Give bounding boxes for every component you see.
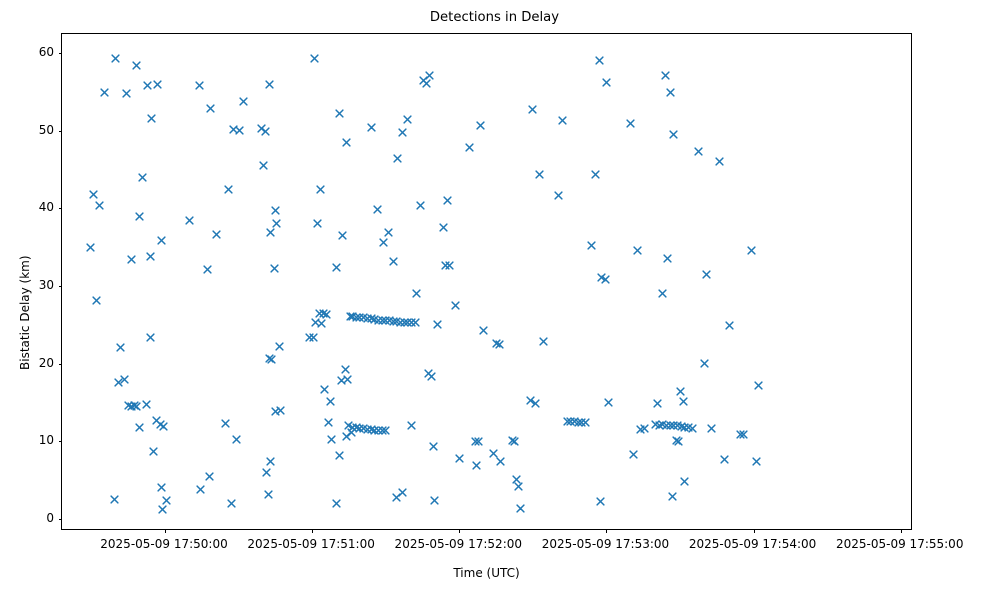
scatter-point <box>666 88 675 97</box>
scatter-point <box>352 423 361 432</box>
scatter-point <box>265 354 274 363</box>
scatter-point <box>327 435 336 444</box>
scatter-point <box>100 88 109 97</box>
scatter-point <box>86 243 95 252</box>
scatter-point <box>203 265 212 274</box>
scatter-point <box>185 216 194 225</box>
y-tick-label: 50 <box>39 123 54 137</box>
scatter-point <box>135 423 144 432</box>
scatter-point <box>445 261 454 270</box>
scatter-point <box>127 255 136 264</box>
x-tick-mark <box>754 529 755 533</box>
scatter-point <box>347 428 356 437</box>
scatter-point <box>162 496 171 505</box>
scatter-point <box>574 418 583 427</box>
scatter-point <box>227 499 236 508</box>
scatter-point <box>655 421 664 430</box>
scatter-point <box>317 319 326 328</box>
scatter-point <box>680 477 689 486</box>
scatter-point <box>636 425 645 434</box>
scatter-point <box>311 318 320 327</box>
y-tick-label: 10 <box>39 433 54 447</box>
scatter-point <box>316 185 325 194</box>
scatter-point <box>309 333 318 342</box>
scatter-point <box>492 339 501 348</box>
scatter-point <box>235 126 244 135</box>
scatter-point <box>379 238 388 247</box>
scatter-point <box>265 80 274 89</box>
x-tick-mark <box>606 529 607 533</box>
scatter-point <box>367 314 376 323</box>
scatter-point <box>754 381 763 390</box>
scatter-point <box>264 490 273 499</box>
scatter-point <box>666 421 675 430</box>
scatter-point <box>715 157 724 166</box>
scatter-point <box>403 115 412 124</box>
scatter-point <box>495 340 504 349</box>
scatter-point <box>132 402 141 411</box>
scatter-point <box>398 488 407 497</box>
y-tick-mark <box>59 519 63 520</box>
scatter-point <box>355 313 364 322</box>
x-tick-label: 2025-05-09 17:53:00 <box>542 537 669 551</box>
scatter-point <box>374 316 383 325</box>
scatter-point <box>403 318 412 327</box>
scatter-point <box>367 123 376 132</box>
scatter-point <box>271 206 280 215</box>
scatter-point <box>596 497 605 506</box>
scatter-point <box>127 402 136 411</box>
scatter-point <box>116 343 125 352</box>
scatter-point <box>335 451 344 460</box>
scatter-point <box>332 263 341 272</box>
scatter-point <box>229 125 238 134</box>
scatter-point <box>633 246 642 255</box>
scatter-point <box>384 228 393 237</box>
scatter-point <box>419 76 428 85</box>
scatter-point <box>374 426 383 435</box>
scatter-point <box>110 495 119 504</box>
scatter-point <box>212 230 221 239</box>
scatter-point <box>239 97 248 106</box>
scatter-point <box>427 372 436 381</box>
scatter-point <box>601 275 610 284</box>
scatter-point <box>310 54 319 63</box>
scatter-point <box>702 270 711 279</box>
scatter-point <box>342 138 351 147</box>
scatter-point <box>221 419 230 428</box>
scatter-point <box>412 289 421 298</box>
scatter-point <box>531 399 540 408</box>
scatter-point <box>343 375 352 384</box>
scatter-point <box>370 426 379 435</box>
scatter-point <box>275 342 284 351</box>
scatter-point <box>516 504 525 513</box>
x-axis-label: Time (UTC) <box>61 566 912 580</box>
scatter-point <box>257 124 266 133</box>
scatter-point <box>271 407 280 416</box>
scatter-point <box>679 397 688 406</box>
scatter-point <box>581 418 590 427</box>
scatter-point <box>688 424 697 433</box>
scatter-point <box>653 399 662 408</box>
x-tick-label: 2025-05-09 17:54:00 <box>689 537 816 551</box>
scatter-point <box>496 457 505 466</box>
scatter-point <box>472 461 481 470</box>
scatter-point <box>344 421 353 430</box>
scatter-point <box>138 173 147 182</box>
scatter-point <box>132 61 141 70</box>
scatter-point <box>276 406 285 415</box>
scatter-point <box>378 426 387 435</box>
scatter-point <box>262 468 271 477</box>
scatter-point <box>111 54 120 63</box>
scatter-point <box>232 435 241 444</box>
scatter-point <box>341 365 350 374</box>
scatter-point <box>153 80 162 89</box>
scatter-point <box>441 261 450 270</box>
scatter-point <box>342 432 351 441</box>
y-tick-mark <box>59 208 63 209</box>
scatter-point <box>566 417 575 426</box>
plot-area <box>61 33 912 530</box>
scatter-point <box>629 450 638 459</box>
scatter-point <box>114 378 123 387</box>
scatter-point <box>381 426 390 435</box>
scatter-point <box>373 205 382 214</box>
y-tick-label: 30 <box>39 278 54 292</box>
scatter-point <box>510 437 519 446</box>
scatter-point <box>725 321 734 330</box>
scatter-point <box>398 128 407 137</box>
scatter-point <box>315 309 324 318</box>
scatter-point <box>320 385 329 394</box>
scatter-point <box>407 421 416 430</box>
y-tick-mark <box>59 131 63 132</box>
scatter-point <box>658 289 667 298</box>
scatter-point <box>135 212 144 221</box>
scatter-point <box>149 447 158 456</box>
scatter-point <box>602 78 611 87</box>
scatter-point <box>259 161 268 170</box>
scatter-point <box>157 236 166 245</box>
y-tick-label: 20 <box>39 356 54 370</box>
scatter-point <box>433 320 442 329</box>
scatter-point <box>597 273 606 282</box>
scatter-point <box>658 420 667 429</box>
scatter-point <box>326 397 335 406</box>
scatter-point <box>700 359 709 368</box>
scatter-point <box>465 143 474 152</box>
scatter-point <box>92 296 101 305</box>
y-tick-label: 40 <box>39 200 54 214</box>
scatter-point <box>526 396 535 405</box>
scatter-point <box>668 492 677 501</box>
scatter-point <box>359 424 368 433</box>
scatter-point <box>156 420 165 429</box>
scatter-point <box>346 312 355 321</box>
scatter-point <box>159 422 168 431</box>
scatter-point <box>752 457 761 466</box>
x-tick-label: 2025-05-09 17:52:00 <box>395 537 522 551</box>
scatter-point <box>270 264 279 273</box>
scatter-point <box>335 109 344 118</box>
scatter-point <box>479 326 488 335</box>
scatter-point <box>663 254 672 263</box>
scatter-point <box>676 387 685 396</box>
scatter-point <box>324 418 333 427</box>
scatter-point <box>739 430 748 439</box>
scatter-point <box>142 400 151 409</box>
scatter-point <box>95 201 104 210</box>
scatter-point <box>677 422 686 431</box>
scatter-point <box>640 424 649 433</box>
x-tick-mark <box>901 529 902 533</box>
y-tick-label: 0 <box>46 511 54 525</box>
matplotlib-figure: Detections in Delay Bistatic Delay (km) … <box>0 0 989 590</box>
scatter-point <box>195 81 204 90</box>
scatter-point <box>430 496 439 505</box>
scatter-point <box>720 455 729 464</box>
scatter-point <box>672 436 681 445</box>
scatter-point <box>146 252 155 261</box>
scatter-point <box>425 71 434 80</box>
scatter-point <box>266 228 275 237</box>
scatter-point <box>378 316 387 325</box>
scatter-point <box>124 401 133 410</box>
scatter-point <box>367 425 376 434</box>
scatter-point <box>489 449 498 458</box>
scatter-point <box>626 119 635 128</box>
scatter-point <box>661 71 670 80</box>
scatter-point <box>389 257 398 266</box>
scatter-point <box>205 472 214 481</box>
scatter-point <box>389 317 398 326</box>
scatter-point <box>476 121 485 130</box>
x-tick-mark <box>165 529 166 533</box>
scatter-point <box>337 376 346 385</box>
scatter-point <box>587 241 596 250</box>
scatter-point <box>451 301 460 310</box>
x-tick-mark <box>459 529 460 533</box>
scatter-points-layer <box>62 34 911 529</box>
scatter-point <box>322 310 331 319</box>
scatter-point <box>122 89 131 98</box>
scatter-point <box>332 499 341 508</box>
scatter-point <box>570 417 579 426</box>
scatter-point <box>736 430 745 439</box>
scatter-point <box>680 423 689 432</box>
scatter-point <box>313 219 322 228</box>
scatter-point <box>359 313 368 322</box>
scatter-point <box>305 333 314 342</box>
y-tick-mark <box>59 441 63 442</box>
scatter-point <box>416 201 425 210</box>
scatter-point <box>539 337 548 346</box>
scatter-point <box>471 437 480 446</box>
scatter-point <box>157 483 166 492</box>
y-tick-mark <box>59 53 63 54</box>
x-tick-label: 2025-05-09 17:55:00 <box>836 537 963 551</box>
scatter-point <box>577 418 586 427</box>
scatter-point <box>604 398 613 407</box>
scatter-point <box>392 493 401 502</box>
scatter-point <box>512 475 521 484</box>
scatter-point <box>595 56 604 65</box>
scatter-point <box>669 130 678 139</box>
scatter-point <box>355 424 364 433</box>
scatter-point <box>400 318 409 327</box>
scatter-point <box>554 191 563 200</box>
scatter-point <box>422 79 431 88</box>
scatter-point <box>363 425 372 434</box>
scatter-point <box>348 312 357 321</box>
scatter-point <box>319 309 328 318</box>
scatter-point <box>385 316 394 325</box>
scatter-point <box>352 313 361 322</box>
scatter-point <box>411 318 420 327</box>
scatter-point <box>591 170 600 179</box>
scatter-point <box>673 421 682 430</box>
scatter-point <box>707 424 716 433</box>
scatter-point <box>443 196 452 205</box>
scatter-point <box>370 315 379 324</box>
scatter-point <box>424 369 433 378</box>
y-tick-mark <box>59 364 63 365</box>
y-tick-label: 60 <box>39 45 54 59</box>
scatter-point <box>146 333 155 342</box>
scatter-point <box>267 355 276 364</box>
scatter-point <box>130 401 139 410</box>
scatter-point <box>662 421 671 430</box>
scatter-point <box>261 127 270 136</box>
scatter-point <box>651 420 660 429</box>
scatter-point <box>439 223 448 232</box>
scatter-point <box>429 442 438 451</box>
scatter-point <box>455 454 464 463</box>
y-axis-tick-labels: 0102030405060 <box>0 33 54 530</box>
scatter-point <box>514 482 523 491</box>
scatter-point <box>272 219 281 228</box>
scatter-point <box>381 316 390 325</box>
scatter-point <box>392 317 401 326</box>
scatter-point <box>143 81 152 90</box>
scatter-point <box>558 116 567 125</box>
scatter-point <box>528 105 537 114</box>
scatter-point <box>348 423 357 432</box>
y-tick-mark <box>59 286 63 287</box>
scatter-point <box>396 318 405 327</box>
scatter-point <box>694 147 703 156</box>
scatter-point <box>393 154 402 163</box>
scatter-point <box>147 114 156 123</box>
scatter-point <box>563 417 572 426</box>
scatter-point <box>674 437 683 446</box>
scatter-point <box>196 485 205 494</box>
x-tick-label: 2025-05-09 17:51:00 <box>247 537 374 551</box>
x-tick-mark <box>312 529 313 533</box>
scatter-point <box>266 457 275 466</box>
scatter-point <box>152 416 161 425</box>
scatter-point <box>206 104 215 113</box>
scatter-point <box>508 436 517 445</box>
scatter-point <box>158 505 167 514</box>
scatter-point <box>535 170 544 179</box>
scatter-point <box>684 423 693 432</box>
scatter-point <box>669 421 678 430</box>
scatter-point <box>224 185 233 194</box>
scatter-point <box>120 375 129 384</box>
scatter-point <box>474 437 483 446</box>
scatter-point <box>407 318 416 327</box>
scatter-point <box>363 314 372 323</box>
scatter-point <box>89 190 98 199</box>
x-tick-label: 2025-05-09 17:50:00 <box>100 537 227 551</box>
scatter-point <box>338 231 347 240</box>
scatter-point <box>747 246 756 255</box>
